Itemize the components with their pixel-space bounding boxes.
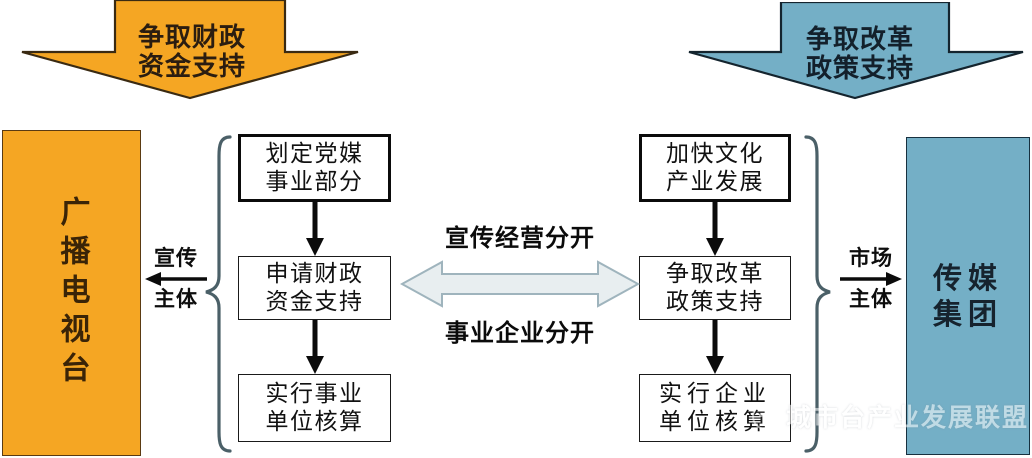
flow-box-right-3-line-1: 实行企业 (659, 380, 771, 408)
double-arrow-icon (400, 257, 640, 311)
flow-box-left-3-line-2: 单位核算 (266, 408, 364, 436)
right-curly-brace (803, 134, 833, 454)
relation-arrow-market-top: 市场 (838, 248, 904, 269)
down-arrow-fiscal-label: 争取财政 资金支持 (122, 24, 262, 82)
entity-panel-broadcaster: 广播电视台 (2, 130, 141, 456)
center-label-bottom: 事业企业分开 (400, 313, 640, 348)
flow-box-right-2: 争取改革 政策支持 (639, 256, 791, 320)
center-relation-group: 宣传经营分开 事业企业分开 (400, 218, 640, 348)
down-arrow-reform-label: 争取改革 政策支持 (790, 26, 930, 84)
flow-box-left-3: 实行事业 单位核算 (238, 374, 391, 442)
fiscal-line-2: 资金支持 (122, 53, 262, 82)
reform-line-1: 争取改革 (790, 26, 930, 55)
connector-left-1-2 (305, 202, 325, 258)
connector-left-2-3 (305, 320, 325, 376)
reform-line-2: 政策支持 (790, 55, 930, 84)
flow-box-left-3-line-1: 实行事业 (266, 380, 364, 408)
flow-box-right-1: 加快文化 产业发展 (639, 134, 791, 202)
flow-box-left-2: 申请财政 资金支持 (238, 256, 391, 320)
flow-box-right-2-line-1: 争取改革 (666, 260, 764, 288)
relation-arrow-market-bottom: 主体 (838, 289, 904, 310)
connector-right-2-3 (705, 320, 725, 376)
diagram-canvas: 争取财政 资金支持 争取改革 政策支持 广播电视台 传媒 集团 宣传 主体 市场 (0, 0, 1032, 458)
media-group-line-2: 集团 (926, 296, 1010, 332)
entity-panel-broadcaster-label: 广播电视台 (57, 196, 87, 391)
relation-arrow-propaganda-bottom: 主体 (143, 289, 209, 310)
flow-box-right-1-line-2: 产业发展 (666, 168, 764, 196)
entity-panel-media-group: 传媒 集团 (906, 137, 1030, 455)
media-group-line-1: 传媒 (926, 260, 1010, 296)
center-label-top: 宣传经营分开 (400, 218, 640, 253)
connector-right-1-2 (705, 202, 725, 258)
relation-arrow-propaganda: 宣传 主体 (143, 248, 209, 310)
left-curly-brace (202, 134, 232, 454)
flow-box-left-1-line-2: 事业部分 (266, 168, 364, 196)
flow-box-right-1-line-1: 加快文化 (666, 140, 764, 168)
arrow-right-icon (838, 270, 904, 288)
relation-arrow-propaganda-top: 宣传 (143, 248, 209, 269)
entity-panel-media-group-label: 传媒 集团 (926, 260, 1010, 333)
flow-box-left-1: 划定党媒 事业部分 (238, 134, 391, 202)
arrow-left-icon (143, 270, 209, 288)
fiscal-line-1: 争取财政 (122, 24, 262, 53)
flow-box-right-3: 实行企业 单位核算 (639, 374, 791, 442)
flow-box-left-2-line-1: 申请财政 (266, 260, 364, 288)
flow-box-right-2-line-2: 政策支持 (666, 288, 764, 316)
flow-box-left-1-line-1: 划定党媒 (266, 140, 364, 168)
relation-arrow-market: 市场 主体 (838, 248, 904, 310)
flow-box-right-3-line-2: 单位核算 (659, 408, 771, 436)
flow-box-left-2-line-2: 资金支持 (266, 288, 364, 316)
